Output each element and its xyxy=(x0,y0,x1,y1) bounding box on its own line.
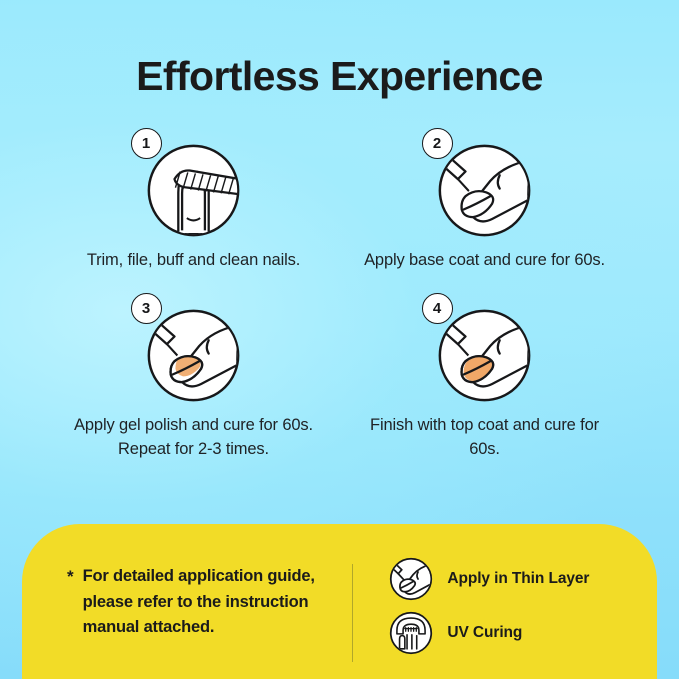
step-number-badge: 1 xyxy=(131,128,162,159)
step-number-badge: 2 xyxy=(422,128,453,159)
step-4: 4 xyxy=(339,293,630,462)
step-caption: Finish with top coat and cure for 60s. xyxy=(357,414,612,462)
step-caption: Apply base coat and cure for 60s. xyxy=(357,249,612,273)
tip-label: UV Curing xyxy=(447,624,522,642)
asterisk-marker: * xyxy=(67,564,74,641)
brush-base-coat-icon xyxy=(437,143,532,238)
tip-label: Apply in Thin Layer xyxy=(447,570,589,588)
thin-layer-brush-icon xyxy=(389,557,433,601)
steps-row-2: 3 xyxy=(48,293,631,462)
step-2-illustration-wrap: 2 xyxy=(415,128,555,240)
step-number-badge: 4 xyxy=(422,293,453,324)
step-caption: Apply gel polish and cure for 60s. Repea… xyxy=(66,414,321,462)
footer-tips: Apply in Thin Layer UV Curin xyxy=(353,524,589,655)
step-3-illustration-wrap: 3 xyxy=(124,293,264,405)
footer-note-block: * For detailed application guide, please… xyxy=(22,524,352,641)
steps-grid: 1 xyxy=(48,128,631,462)
footer-divider xyxy=(352,564,353,662)
step-2: 2 Apply base coat a xyxy=(339,128,630,273)
step-caption: Trim, file, buff and clean nails. xyxy=(66,249,321,273)
step-1: 1 xyxy=(48,128,339,273)
page-title: Effortless Experience xyxy=(0,55,679,98)
uv-lamp-hand-icon xyxy=(389,611,433,655)
step-1-illustration-wrap: 1 xyxy=(124,128,264,240)
step-3: 3 xyxy=(48,293,339,462)
steps-row-1: 1 xyxy=(48,128,631,273)
nail-file-on-finger-icon xyxy=(146,143,241,238)
footer-note-text: For detailed application guide, please r… xyxy=(83,564,352,641)
promo-graphic: Effortless Experience 1 xyxy=(0,0,679,679)
step-4-illustration-wrap: 4 xyxy=(415,293,555,405)
footer-panel: * For detailed application guide, please… xyxy=(22,524,657,679)
brush-gel-polish-icon xyxy=(146,308,241,403)
brush-top-coat-icon xyxy=(437,308,532,403)
tip-apply-thin-layer: Apply in Thin Layer xyxy=(389,557,589,601)
step-number-badge: 3 xyxy=(131,293,162,324)
tip-uv-curing: UV Curing xyxy=(389,611,589,655)
